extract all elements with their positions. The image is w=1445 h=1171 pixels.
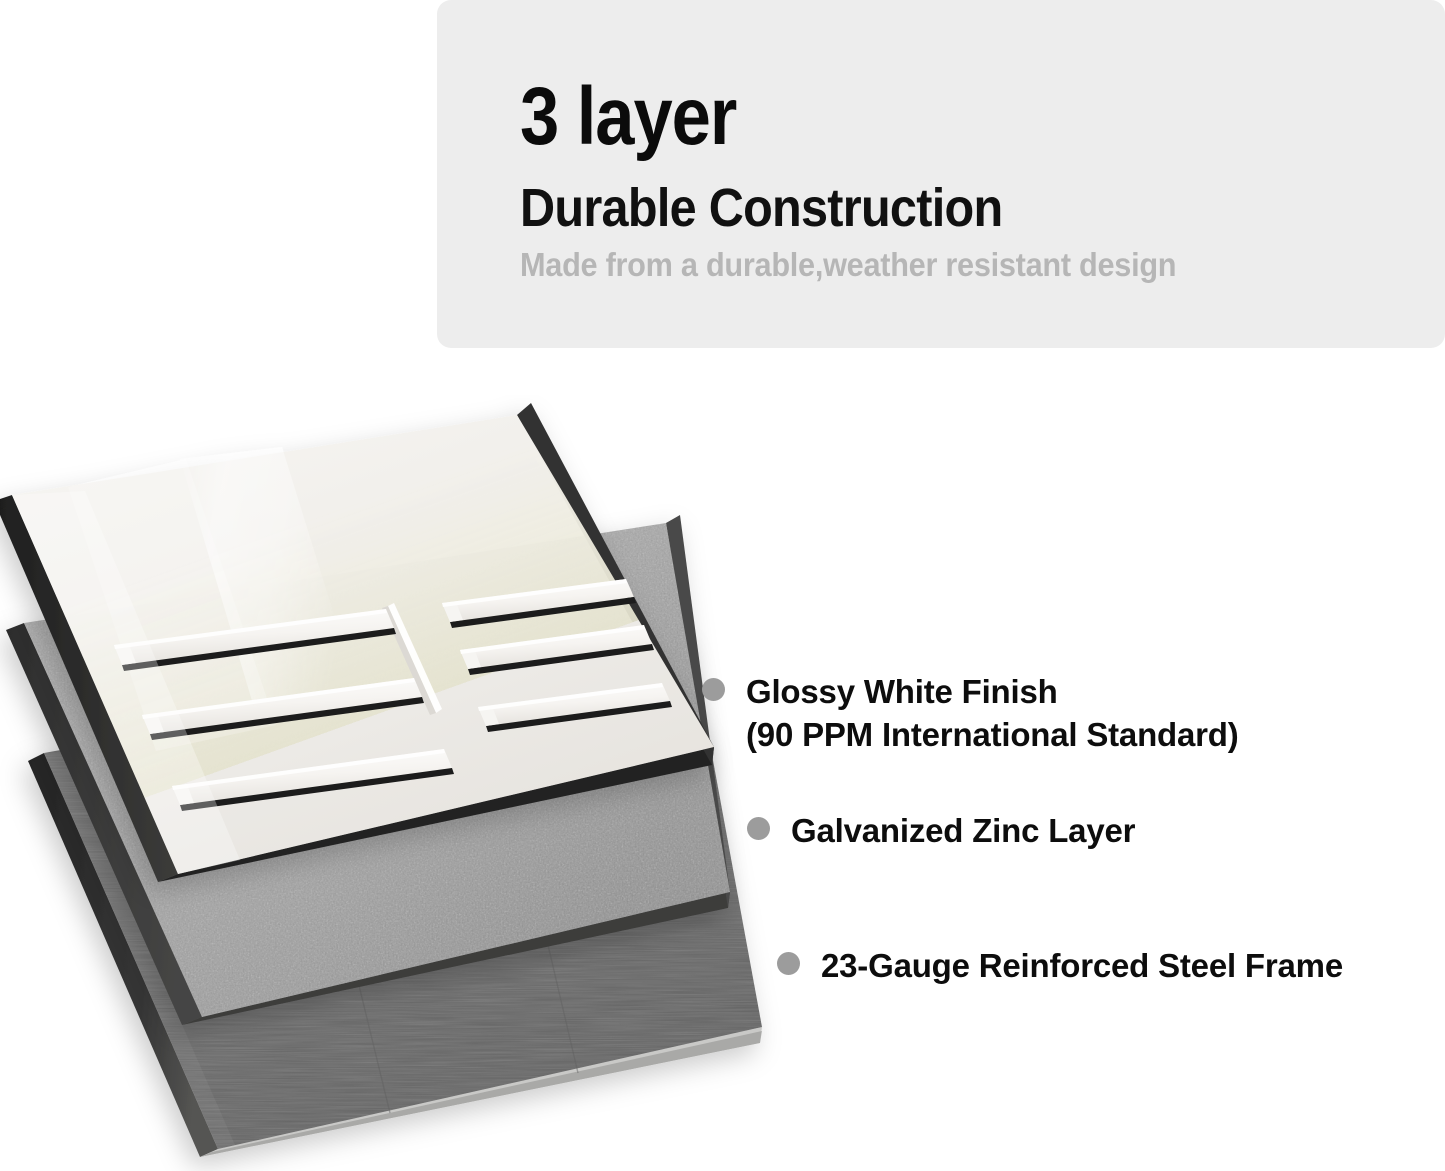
feature-item-reinforced-steel-frame: 23-Gauge Reinforced Steel Frame xyxy=(777,945,1343,988)
bullet-dot-icon xyxy=(702,678,725,701)
exploded-layers-svg xyxy=(0,395,790,1171)
feature-label-line1: 23-Gauge Reinforced Steel Frame xyxy=(821,947,1343,984)
feature-label-line1: Galvanized Zinc Layer xyxy=(791,812,1135,849)
bullet-dot-icon xyxy=(777,952,800,975)
feature-label: 23-Gauge Reinforced Steel Frame xyxy=(821,945,1343,988)
feature-label-line2: (90 PPM International Standard) xyxy=(746,714,1239,757)
feature-label-line1: Glossy White Finish xyxy=(746,673,1058,710)
page-tagline: Made from a durable,weather resistant de… xyxy=(520,248,1176,281)
header-panel: 3 layer Durable Construction Made from a… xyxy=(437,0,1445,348)
feature-item-galvanized-zinc-layer: Galvanized Zinc Layer xyxy=(747,810,1135,853)
feature-item-glossy-white-finish: Glossy White Finish (90 PPM Internationa… xyxy=(702,671,1239,757)
product-layers-illustration xyxy=(0,395,790,1171)
bullet-dot-icon xyxy=(747,817,770,840)
page-title: 3 layer xyxy=(520,78,736,156)
infographic-page: 3 layer Durable Construction Made from a… xyxy=(0,0,1445,1171)
page-subtitle: Durable Construction xyxy=(520,181,1002,235)
feature-label: Galvanized Zinc Layer xyxy=(791,810,1135,853)
feature-label: Glossy White Finish (90 PPM Internationa… xyxy=(746,671,1239,757)
